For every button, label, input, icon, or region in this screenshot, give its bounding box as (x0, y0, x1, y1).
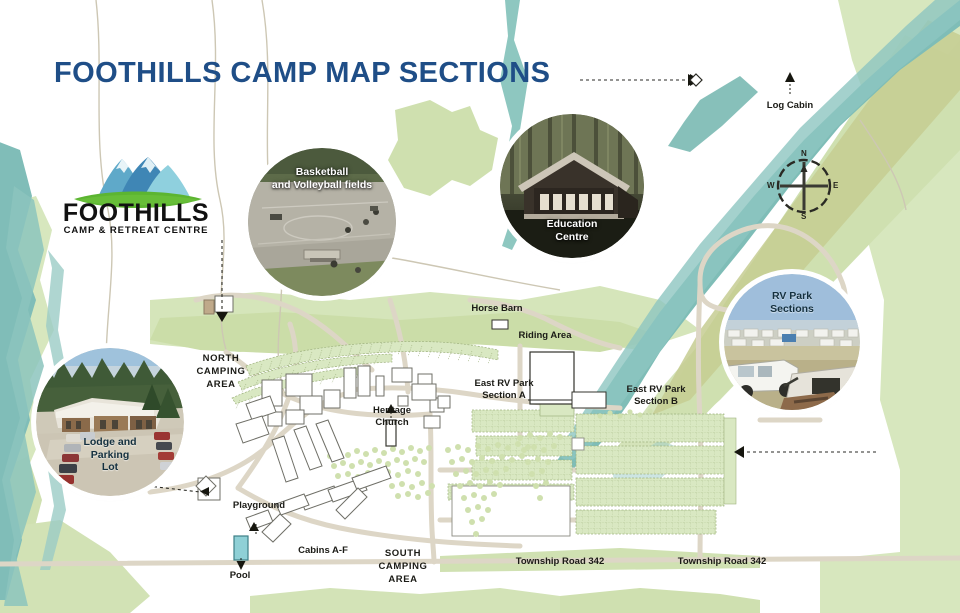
logo-tagline: CAMP & RETREAT CENTRE (62, 225, 210, 236)
photo-caption: Lodge and Parking Lot (36, 436, 184, 474)
label-heritage-church: Heritage Church (350, 405, 434, 429)
photo-education-centre[interactable]: Education Centre (500, 114, 644, 258)
foothills-logo: FOOTHILLS CAMP & RETREAT CENTRE (62, 155, 210, 241)
label-riding-area: Riding Area (500, 330, 590, 342)
photo-caption: Basketball and Volleyball fields (248, 166, 396, 191)
camp-map-poster: FOOTHILLS CAMP MAP SECTIONS FOOTHILLS CA… (0, 0, 960, 613)
compass-east-label: E (833, 181, 838, 190)
photo-lodge-parking-lot[interactable]: Lodge and Parking Lot (36, 348, 184, 496)
compass-west-label: W (767, 181, 775, 190)
photo-rv-park-sections[interactable]: RV Park Sections (724, 274, 860, 410)
compass-north-label: N (801, 149, 807, 158)
photo-caption: RV Park Sections (724, 290, 860, 315)
photo-caption: Education Centre (500, 218, 644, 243)
label-north-camping-area: NORTH CAMPING AREA (178, 352, 264, 391)
label-east-rv-park-section-b: East RV Park Section B (604, 384, 708, 408)
label-playground: Playground (222, 500, 296, 512)
label-east-rv-park-section-a: East RV Park Section A (456, 378, 552, 402)
label-township-road-right: Township Road 342 (662, 556, 782, 568)
rv-section-b (576, 414, 736, 534)
page-title: FOOTHILLS CAMP MAP SECTIONS (54, 57, 550, 90)
compass-south-label: S (801, 212, 806, 221)
label-pool: Pool (218, 570, 262, 582)
label-cabins: Cabins A-F (280, 545, 366, 557)
label-log-cabin: Log Cabin (742, 100, 838, 112)
label-horse-barn: Horse Barn (452, 303, 542, 315)
photo-image (36, 348, 184, 496)
photo-basketball-volleyball[interactable]: Basketball and Volleyball fields (248, 148, 396, 296)
label-township-road-left: Township Road 342 (500, 556, 620, 568)
logo-name: FOOTHILLS (62, 199, 210, 228)
label-south-camping-area: SOUTH CAMPING AREA (366, 547, 440, 586)
